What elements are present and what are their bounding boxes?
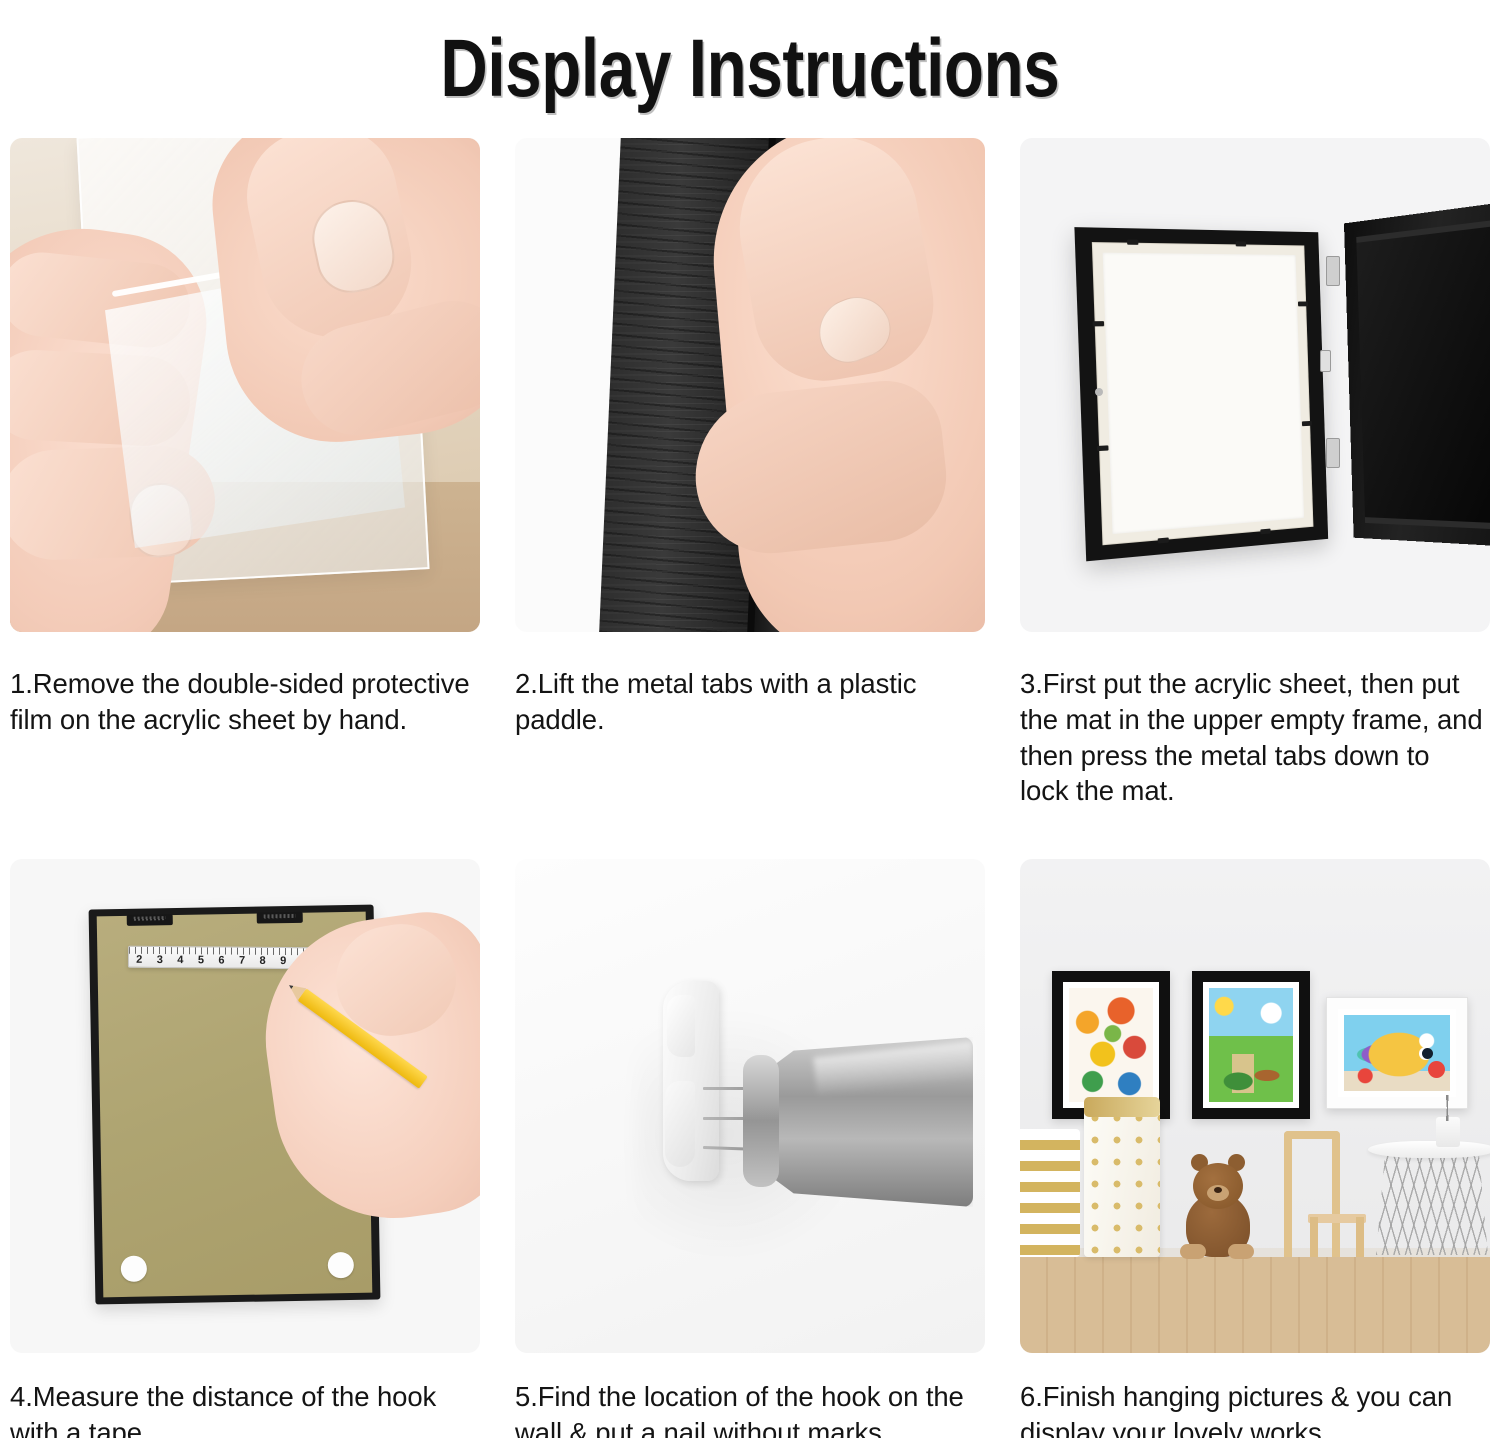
teddy-bear (1176, 1149, 1260, 1257)
frame-front (1074, 227, 1328, 561)
screw-icon (1095, 388, 1103, 396)
hinge-icon (1326, 256, 1340, 286)
frame-mat (1338, 1009, 1456, 1097)
step-card-6: 6.Finish hanging pictures & you can disp… (1020, 859, 1490, 1438)
metal-tab (1097, 445, 1109, 451)
frame-mat (1203, 982, 1299, 1108)
polka-dot-storage-bag (1084, 1107, 1160, 1257)
step-card-5: 5.Find the location of the hook on the w… (515, 859, 985, 1438)
chair-leg (1310, 1217, 1318, 1257)
wooden-chair (1278, 1129, 1370, 1257)
pencil-cup (1436, 1117, 1460, 1147)
bear-paw (1228, 1244, 1254, 1259)
hook-lip (667, 995, 695, 1057)
step-caption-3: 3.First put the acrylic sheet, then put … (1020, 666, 1490, 809)
instruction-sheet: Display Instructions 1.Remove the double… (0, 0, 1500, 1438)
mat-board (1092, 242, 1314, 545)
step-card-2: 2.Lift the metal tabs with a plastic pad… (515, 138, 985, 809)
header: Display Instructions (0, 0, 1500, 138)
step-photo-6 (1020, 859, 1490, 1353)
metal-tab (1260, 529, 1270, 535)
mat-window (1103, 253, 1304, 534)
striped-storage-box (1020, 1129, 1080, 1257)
sawtooth-hanger-icon (257, 912, 303, 924)
step-caption-4: 4.Measure the distance of the hook with … (10, 1379, 480, 1438)
steps-row-top: 1.Remove the double-sided protective fil… (0, 138, 1500, 809)
frame-back-panel (1344, 201, 1490, 548)
table-top (1368, 1141, 1490, 1158)
hammer-face (743, 1055, 779, 1187)
metal-tab (1236, 241, 1247, 246)
table-wire-base (1376, 1155, 1488, 1255)
bear-paw (1180, 1244, 1206, 1259)
step-caption-6: 6.Finish hanging pictures & you can disp… (1020, 1379, 1490, 1438)
step-photo-3 (1020, 138, 1490, 632)
hook-base (665, 1081, 695, 1167)
wire-side-table (1368, 1141, 1490, 1257)
metal-tab (1093, 321, 1105, 326)
hinge-icon (1326, 438, 1340, 468)
step-card-1: 1.Remove the double-sided protective fil… (10, 138, 480, 809)
pencils-icon (1437, 1095, 1459, 1121)
step-caption-5: 5.Find the location of the hook on the w… (515, 1379, 985, 1438)
step-photo-2 (515, 138, 985, 632)
sawtooth-hanger-icon (127, 914, 173, 926)
step-photo-1 (10, 138, 480, 632)
back-panel-inner (1356, 218, 1490, 530)
tape-number: 6 (218, 954, 224, 966)
metal-tab (1158, 537, 1169, 543)
tape-number: 4 (177, 954, 183, 966)
tape-number: 9 (280, 955, 286, 967)
hung-frame-2 (1192, 971, 1310, 1119)
frame-mat (1063, 982, 1159, 1108)
tape-number: 8 (260, 954, 266, 966)
bag-rolled-top (1084, 1097, 1160, 1117)
step-caption-1: 1.Remove the double-sided protective fil… (10, 666, 480, 738)
step-card-4: 2 3 4 5 6 7 8 9 10 1 2 3 4 5 (10, 859, 480, 1438)
hung-frame-3 (1326, 997, 1468, 1109)
metal-tab (1298, 301, 1308, 306)
step-caption-2: 2.Lift the metal tabs with a plastic pad… (515, 666, 985, 738)
artwork-landscape (1209, 988, 1293, 1102)
metal-tab (1302, 421, 1312, 426)
tape-number: 5 (198, 954, 204, 966)
wood-floor (1020, 1257, 1490, 1353)
tape-number: 3 (157, 953, 163, 965)
bear-nose (1214, 1187, 1222, 1193)
tape-number: 7 (239, 954, 245, 966)
artwork-fruits (1069, 988, 1153, 1102)
step-photo-5 (515, 859, 985, 1353)
steps-row-bottom: 2 3 4 5 6 7 8 9 10 1 2 3 4 5 (0, 859, 1500, 1438)
metal-tab (1127, 240, 1138, 245)
chair-leg (1356, 1217, 1364, 1257)
hinge-icon (1320, 350, 1331, 372)
page-title: Display Instructions (440, 22, 1059, 116)
artwork-fish (1344, 1015, 1450, 1091)
step-photo-4: 2 3 4 5 6 7 8 9 10 1 2 3 4 5 (10, 859, 480, 1353)
step-card-3: 3.First put the acrylic sheet, then put … (1020, 138, 1490, 809)
tape-number: 2 (136, 953, 142, 965)
